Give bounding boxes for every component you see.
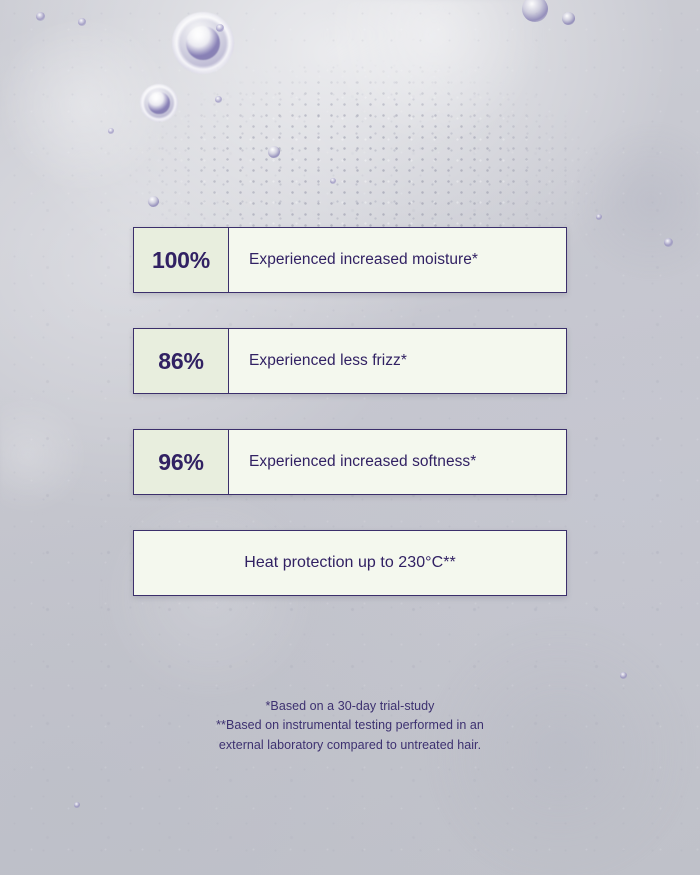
droplet-icon [522, 0, 548, 22]
stat-label-text: Experienced less frizz* [249, 352, 407, 371]
droplet-icon [330, 178, 336, 184]
stat-percent-value: 96% [158, 451, 203, 474]
droplet-icon [172, 12, 234, 74]
stat-row: 96% Experienced increased softness* [133, 429, 567, 495]
promo-graphic: 100% Experienced increased moisture* 86%… [0, 0, 700, 875]
stat-percent-cell: 86% [134, 329, 229, 393]
stat-percent-value: 86% [158, 350, 203, 373]
droplet-icon [140, 84, 178, 122]
stat-label-cell: Experienced increased softness* [229, 430, 566, 494]
footnotes: *Based on a 30-day trial-study **Based o… [0, 697, 700, 755]
stat-row: 100% Experienced increased moisture* [133, 227, 567, 293]
heat-protection-row: Heat protection up to 230°C** [133, 530, 567, 596]
droplet-icon [78, 18, 86, 26]
droplet-icon [562, 12, 575, 25]
droplet-icon [268, 146, 280, 158]
stat-label-text: Experienced increased softness* [249, 453, 476, 472]
stat-label-text: Experienced increased moisture* [249, 251, 478, 270]
droplet-icon [664, 238, 673, 247]
stat-percent-cell: 100% [134, 228, 229, 292]
droplet-icon [215, 96, 222, 103]
droplet-icon [216, 24, 224, 32]
droplet-icon [74, 802, 80, 808]
heat-protection-label-cell: Heat protection up to 230°C** [134, 531, 566, 595]
stat-percent-value: 100% [152, 249, 210, 272]
stat-row: 86% Experienced less frizz* [133, 328, 567, 394]
heat-protection-text: Heat protection up to 230°C** [244, 553, 456, 572]
stat-label-cell: Experienced increased moisture* [229, 228, 566, 292]
droplet-icon [148, 196, 159, 207]
footnote-line: external laboratory compared to untreate… [0, 736, 700, 755]
droplet-icon [596, 214, 602, 220]
stat-percent-cell: 96% [134, 430, 229, 494]
droplet-icon [620, 672, 627, 679]
stat-label-cell: Experienced less frizz* [229, 329, 566, 393]
droplet-icon [108, 128, 114, 134]
claims-panel: 100% Experienced increased moisture* 86%… [133, 227, 567, 596]
footnote-line: **Based on instrumental testing performe… [0, 716, 700, 735]
footnote-line: *Based on a 30-day trial-study [0, 697, 700, 716]
droplet-icon [36, 12, 45, 21]
